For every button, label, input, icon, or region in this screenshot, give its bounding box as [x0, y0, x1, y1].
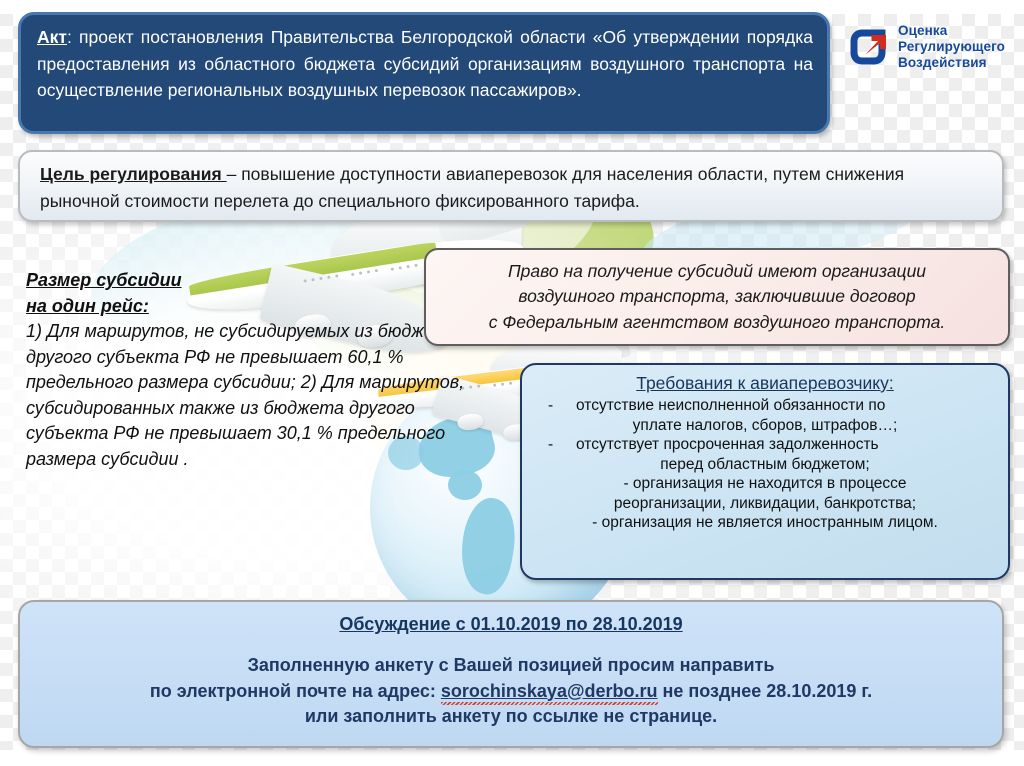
goal-text: Цель регулирования – повышение доступнос…: [40, 161, 986, 216]
subsidy-heading-line2: на один рейс:: [26, 294, 466, 320]
act-callout: Акт: проект постановления Правительства …: [18, 12, 830, 134]
eligibility-text: Право на получение субсидий имеют органи…: [426, 259, 1008, 335]
requirement-item: - организация не находится в процессе: [532, 474, 998, 494]
requirements-callout: Требования к авиаперевозчику: -отсутстви…: [520, 363, 1010, 580]
ora-logo-line3: Воздействия: [898, 55, 1005, 71]
subsidy-amount-text: Размер субсидии на один рейс: 1) Для мар…: [26, 268, 466, 472]
discussion-line2-pre: по электронной почте на адрес:: [150, 681, 441, 701]
discussion-line3: или заполнить анкету по ссылке не страни…: [20, 704, 1002, 730]
ora-logo: Оценка Регулирующего Воздействия: [846, 18, 1016, 76]
ora-logo-text: Оценка Регулирующего Воздействия: [898, 23, 1005, 71]
ora-logo-line2: Регулирующего: [898, 39, 1005, 55]
eligibility-callout: Право на получение субсидий имеют органи…: [424, 248, 1010, 346]
requirement-item: - организация не является иностранным ли…: [532, 513, 998, 533]
ora-logo-icon: [846, 25, 890, 69]
discussion-line2: по электронной почте на адрес: sorochins…: [20, 679, 1002, 705]
discussion-line2-post: не позднее 28.10.2019 г.: [658, 681, 873, 701]
email-link[interactable]: sorochinskaya@derbo.ru: [441, 681, 658, 701]
act-body: : проект постановления Правительства Бел…: [37, 27, 813, 100]
subsidy-heading-line1: Размер субсидии: [26, 268, 466, 294]
ora-logo-line1: Оценка: [898, 23, 1005, 39]
requirements-title: Требования к авиаперевозчику:: [532, 373, 998, 394]
requirement-item: -отсутствие неисполненной обязанности по: [532, 396, 998, 416]
requirement-dash: -: [548, 396, 576, 416]
requirement-item-cont: перед областным бюджетом;: [532, 455, 998, 475]
discussion-line1: Заполненную анкету с Вашей позицией прос…: [20, 653, 1002, 679]
discussion-title: Обсуждение с 01.10.2019 по 28.10.2019: [20, 614, 1002, 635]
eligibility-line2: воздушного транспорта, заключившие догов…: [426, 284, 1008, 309]
discussion-callout: Обсуждение с 01.10.2019 по 28.10.2019 За…: [18, 600, 1004, 748]
goal-callout: Цель регулирования – повышение доступнос…: [18, 150, 1004, 222]
requirement-text: отсутствие неисполненной обязанности по: [576, 397, 885, 414]
eligibility-line1: Право на получение субсидий имеют органи…: [426, 259, 1008, 284]
act-label: Акт: [37, 27, 67, 47]
eligibility-line3: с Федеральным агентством воздушного тран…: [426, 310, 1008, 335]
act-text: Акт: проект постановления Правительства …: [37, 24, 813, 104]
requirement-item: -отсутствует просроченная задолженность: [532, 435, 998, 455]
requirement-dash: -: [548, 435, 576, 455]
bottom-white-band: [0, 750, 1024, 766]
goal-label: Цель регулирования: [40, 164, 227, 184]
subsidy-body: 1) Для маршрутов, не субсидируемых из бю…: [26, 319, 466, 472]
requirement-item-cont: уплате налогов, сборов, штрафов…;: [532, 416, 998, 436]
requirement-item-cont: реорганизации, ликвидации, банкротства;: [532, 494, 998, 514]
requirement-text: отсутствует просроченная задолженность: [576, 436, 879, 453]
